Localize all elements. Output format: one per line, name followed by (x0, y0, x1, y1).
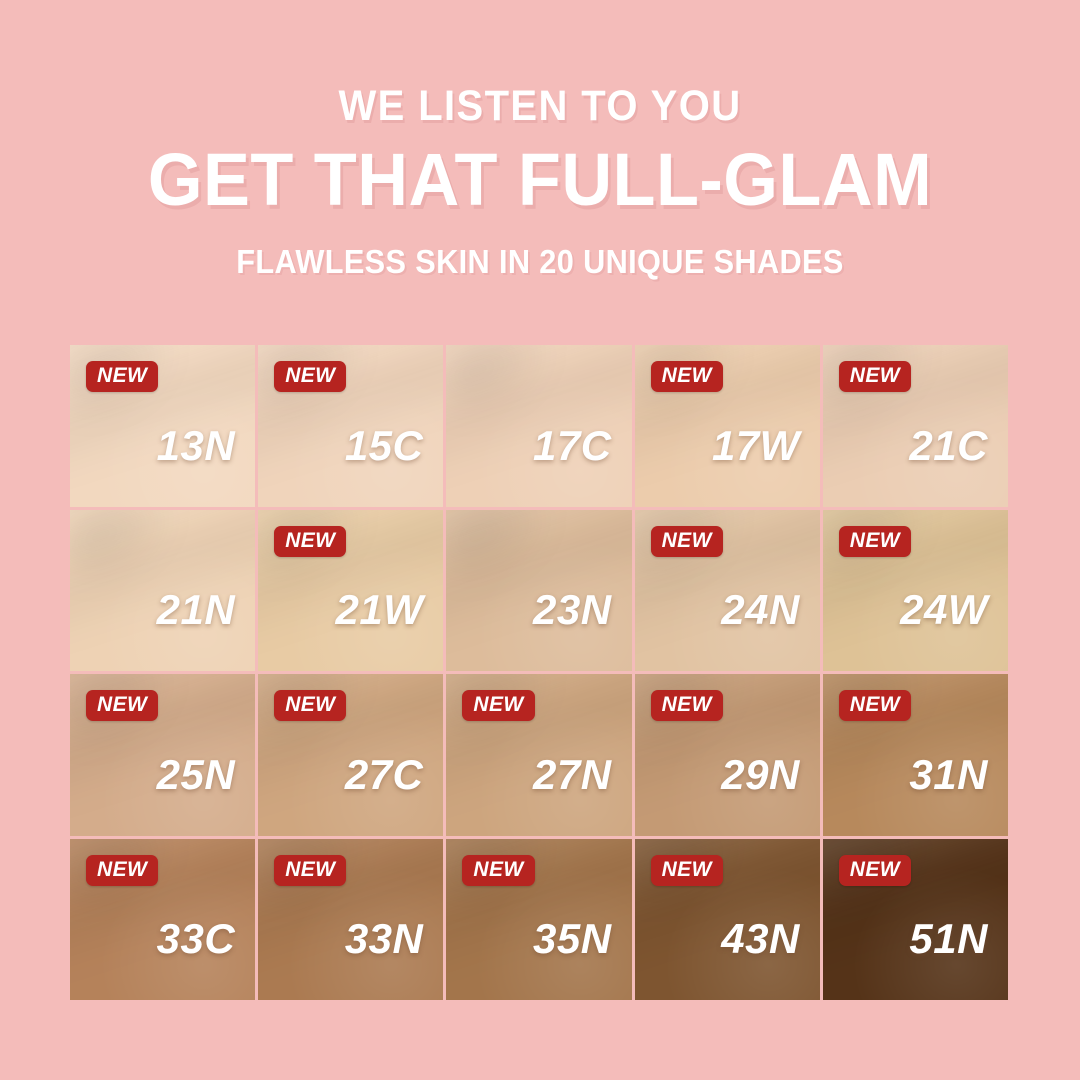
shade-label: 21C (909, 425, 988, 467)
new-badge: NEW (274, 855, 346, 886)
shade-swatch[interactable]: NEW23N (446, 510, 631, 672)
shade-label: 27N (533, 754, 612, 796)
shade-swatch[interactable]: NEW25N (70, 674, 255, 836)
shade-swatch[interactable]: NEW29N (635, 674, 820, 836)
sub-headline: FLAWLESS SKIN IN 20 UNIQUE SHADES (38, 245, 1042, 280)
shade-swatch[interactable]: NEW21N (70, 510, 255, 672)
shade-label: 31N (909, 754, 988, 796)
shade-swatch[interactable]: NEW33N (258, 839, 443, 1001)
new-badge: NEW (274, 526, 346, 557)
shade-label: 25N (157, 754, 236, 796)
shade-label: 24W (900, 589, 988, 631)
new-badge: NEW (651, 361, 723, 392)
shade-swatch[interactable]: NEW17W (635, 345, 820, 507)
shade-swatch[interactable]: NEW35N (446, 839, 631, 1001)
shade-swatch[interactable]: NEW31N (823, 674, 1008, 836)
new-badge: NEW (651, 690, 723, 721)
shade-label: 17C (533, 425, 612, 467)
shade-swatch[interactable]: NEW24N (635, 510, 820, 672)
shade-swatch[interactable]: NEW15C (258, 345, 443, 507)
shade-label: 33N (345, 918, 424, 960)
new-badge: NEW (86, 690, 158, 721)
shade-swatch[interactable]: NEW43N (635, 839, 820, 1001)
shade-label: 15C (345, 425, 424, 467)
new-badge: NEW (839, 855, 911, 886)
shade-swatch[interactable]: NEW27C (258, 674, 443, 836)
shade-label: 13N (157, 425, 236, 467)
new-badge: NEW (651, 526, 723, 557)
shade-swatch[interactable]: NEW13N (70, 345, 255, 507)
shade-label: 29N (721, 754, 800, 796)
shade-swatch[interactable]: NEW24W (823, 510, 1008, 672)
headline-block: WE LISTEN TO YOU GET THAT FULL-GLAM FLAW… (0, 84, 1080, 279)
eyebrow-text: WE LISTEN TO YOU (38, 84, 1042, 129)
new-badge: NEW (274, 690, 346, 721)
shade-label: 21N (157, 589, 236, 631)
new-badge: NEW (86, 361, 158, 392)
new-badge: NEW (839, 690, 911, 721)
shade-label: 35N (533, 918, 612, 960)
shade-label: 43N (721, 918, 800, 960)
promo-canvas: WE LISTEN TO YOU GET THAT FULL-GLAM FLAW… (0, 0, 1080, 1080)
shade-label: 23N (533, 589, 612, 631)
new-badge: NEW (462, 690, 534, 721)
new-badge: NEW (651, 855, 723, 886)
new-badge: NEW (86, 855, 158, 886)
new-badge: NEW (839, 526, 911, 557)
new-badge: NEW (839, 361, 911, 392)
shade-swatch[interactable]: NEW21C (823, 345, 1008, 507)
shade-swatch[interactable]: NEW17C (446, 345, 631, 507)
shade-swatch[interactable]: NEW27N (446, 674, 631, 836)
shade-label: 17W (712, 425, 800, 467)
shade-label: 27C (345, 754, 424, 796)
shade-swatch[interactable]: NEW51N (823, 839, 1008, 1001)
main-headline: GET THAT FULL-GLAM (27, 141, 1053, 219)
shade-label: 51N (909, 918, 988, 960)
shade-label: 21W (336, 589, 424, 631)
shade-label: 33C (157, 918, 236, 960)
shade-label: 24N (721, 589, 800, 631)
shade-swatch[interactable]: NEW33C (70, 839, 255, 1001)
new-badge: NEW (274, 361, 346, 392)
shade-grid: NEW13NNEW15CNEW17CNEW17WNEW21CNEW21NNEW2… (70, 345, 1008, 1000)
new-badge: NEW (462, 855, 534, 886)
shade-swatch[interactable]: NEW21W (258, 510, 443, 672)
